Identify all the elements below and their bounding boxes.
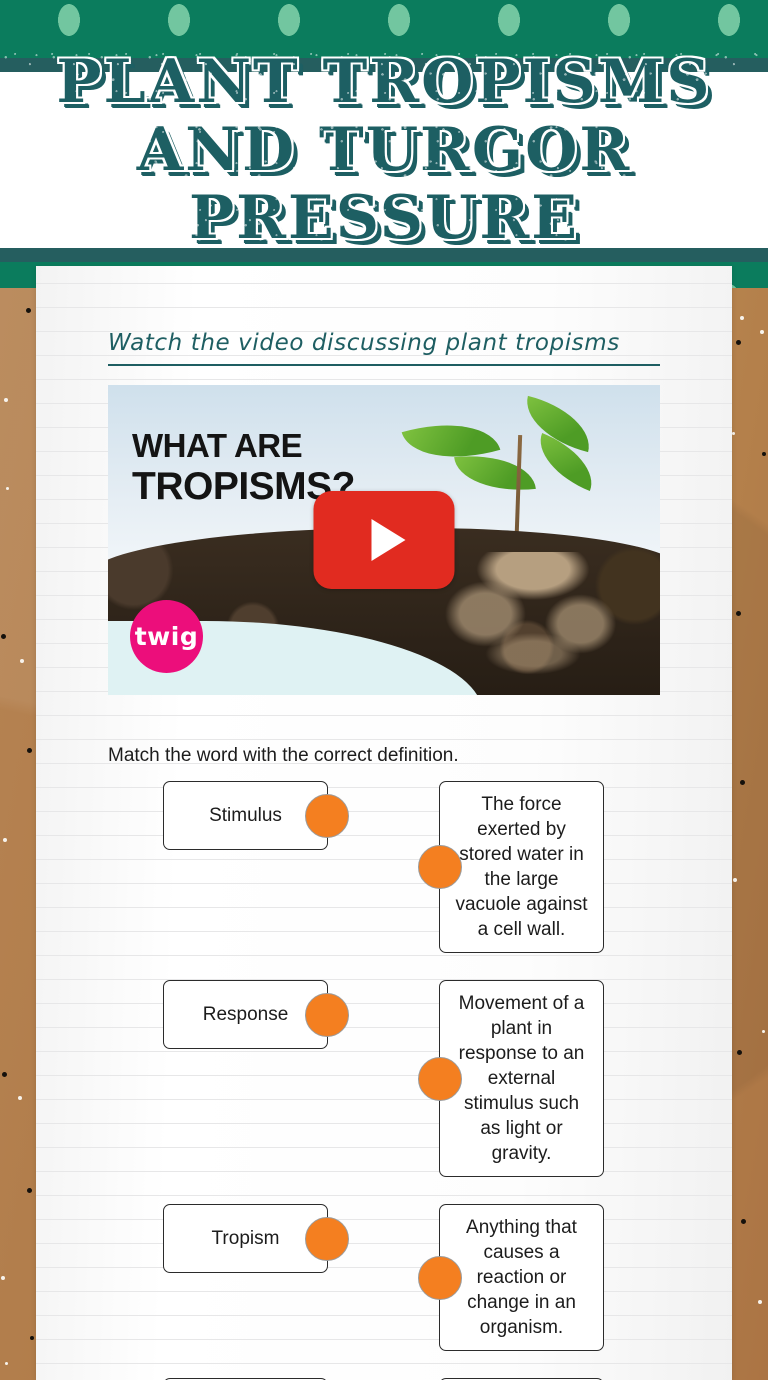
cork-speck — [736, 340, 741, 345]
term-label: Stimulus — [209, 803, 282, 828]
roots-illustration — [434, 552, 633, 676]
definition-column: The force exerted by stored water in the… — [383, 781, 660, 953]
cork-speck — [758, 1300, 762, 1304]
term-connector-dot[interactable] — [305, 794, 349, 838]
match-row: Stimulus The force exerted by stored wat… — [108, 781, 660, 953]
cork-speck — [30, 1336, 34, 1340]
definition-box[interactable]: The force exerted by stored water in the… — [439, 781, 604, 953]
definition-label: Anything that causes a reaction or chang… — [452, 1215, 591, 1340]
cork-speck — [740, 316, 744, 320]
term-connector-dot[interactable] — [305, 993, 349, 1037]
definition-column: Movement of a plant in response to an ex… — [383, 980, 660, 1177]
cork-speck — [760, 330, 764, 334]
cork-speck — [5, 1362, 8, 1365]
cork-speck — [4, 398, 8, 402]
definition-connector-dot[interactable] — [418, 1256, 462, 1300]
match-row: Response Movement of a plant in response… — [108, 980, 660, 1177]
video-section-heading: Watch the video discussing plant tropism… — [108, 330, 660, 366]
definition-label: The force exerted by stored water in the… — [452, 792, 591, 942]
cork-speck — [762, 452, 766, 456]
play-triangle-icon — [372, 519, 406, 561]
cork-speck — [740, 780, 745, 785]
cork-speck — [741, 1219, 746, 1224]
term-column: Tropism — [108, 1204, 383, 1273]
cork-speck — [18, 1096, 22, 1100]
term-label: Response — [203, 1002, 289, 1027]
cork-speck — [26, 308, 31, 313]
cork-speck — [27, 748, 32, 753]
worksheet-paper: Watch the video discussing plant tropism… — [36, 266, 732, 1380]
term-box[interactable]: Stimulus — [163, 781, 328, 850]
term-connector-dot[interactable] — [305, 1217, 349, 1261]
term-box[interactable]: Response — [163, 980, 328, 1049]
cork-speck — [27, 1188, 32, 1193]
term-box[interactable]: Tropism — [163, 1204, 328, 1273]
definition-label: Movement of a plant in response to an ex… — [452, 991, 591, 1166]
cork-speck — [20, 659, 24, 663]
definition-connector-dot[interactable] — [418, 1057, 462, 1101]
cork-speck — [733, 878, 737, 882]
cork-speck — [6, 487, 9, 490]
page-title: Plant Tropisms and Turgor Pressure — [0, 48, 768, 252]
cork-speck — [762, 1030, 765, 1033]
video-thumbnail[interactable]: WHAT ARE TROPISMS? twig — [108, 385, 660, 695]
term-column: Response — [108, 980, 383, 1049]
video-headline-line1: WHAT ARE — [132, 425, 355, 466]
match-activity: Stimulus The force exerted by stored wat… — [108, 781, 660, 1380]
definition-box[interactable]: Anything that causes a reaction or chang… — [439, 1204, 604, 1351]
twig-logo: twig — [130, 600, 203, 673]
term-label: Tropism — [212, 1226, 280, 1251]
definition-box[interactable]: Movement of a plant in response to an ex… — [439, 980, 604, 1177]
cork-speck — [736, 611, 741, 616]
cork-speck — [737, 1050, 742, 1055]
corkboard-background: Plant Tropisms and Turgor Pressure Watch… — [0, 0, 768, 1380]
cork-speck — [2, 1072, 7, 1077]
term-column: Stimulus — [108, 781, 383, 850]
match-instruction: Match the word with the correct definiti… — [108, 745, 660, 767]
cork-speck — [732, 432, 735, 435]
cork-speck — [3, 838, 7, 842]
cork-speck — [1, 634, 6, 639]
cork-speck — [1, 1276, 5, 1280]
play-button-icon[interactable] — [314, 491, 455, 589]
definition-column: Anything that causes a reaction or chang… — [383, 1204, 660, 1351]
definition-connector-dot[interactable] — [418, 845, 462, 889]
match-row: Tropism Anything that causes a reaction … — [108, 1204, 660, 1351]
